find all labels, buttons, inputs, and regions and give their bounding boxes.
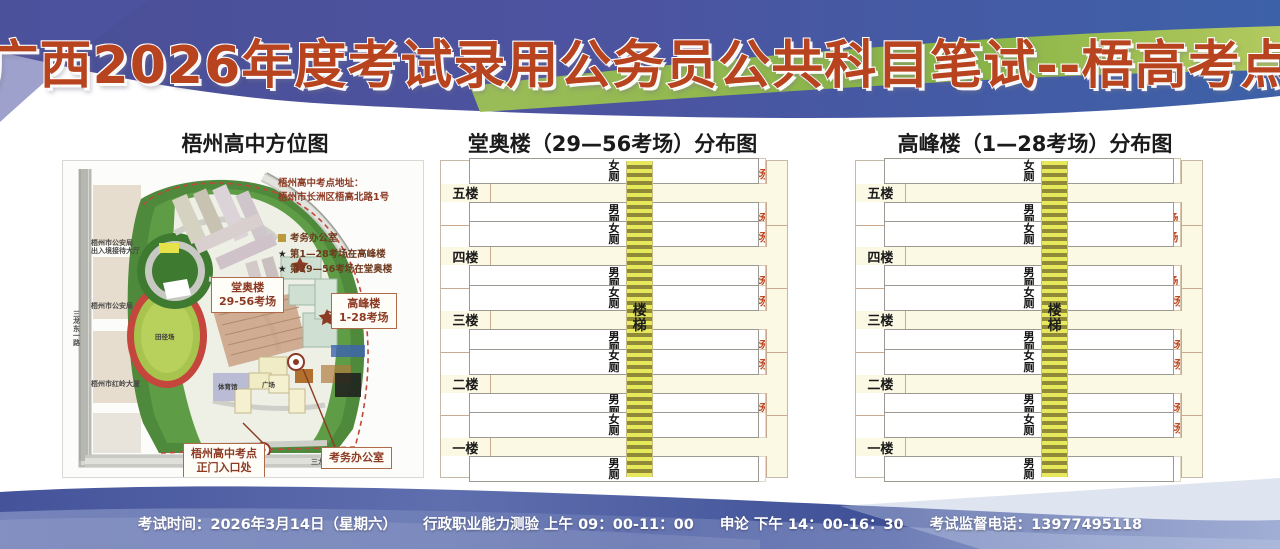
- female-restroom-cell: 女厕: [469, 158, 760, 184]
- square-marker-icon: [278, 234, 286, 242]
- callout-main-gate-line2: 正门入口处: [191, 461, 257, 475]
- place-label-hongling: 梧州市红岭大厦: [91, 379, 145, 389]
- stair-label-char: 楼: [1048, 304, 1062, 319]
- floor-band: [441, 375, 787, 393]
- female-restroom-cell: 女厕: [884, 221, 1175, 247]
- stair-label-char: 梯: [1048, 319, 1062, 334]
- floor-band: [441, 311, 787, 329]
- callout-main-gate-line1: 梧州高中考点: [191, 447, 257, 461]
- stairwell-column: 楼梯: [626, 161, 652, 477]
- female-restroom-cell: 女厕: [469, 285, 760, 311]
- map-address-line2: 梧州市长洲区梧高北路1号: [278, 191, 389, 205]
- stair-label-char: 楼: [633, 304, 647, 319]
- callout-office[interactable]: 考务办公室: [321, 447, 392, 469]
- stair-label-char: 梯: [633, 319, 647, 334]
- footer-subject-1: 行政职业能力测验 上午 09：00-11：00: [423, 513, 694, 534]
- legend-label-2: 第29—56考场在堂奥楼: [290, 264, 392, 275]
- wc-char: 男: [608, 394, 619, 405]
- floor-band: [441, 247, 787, 265]
- tangao-floor-table[interactable]: 五楼501室第29考场502室第30考场504室第32考场503室第31考场女厕…: [440, 160, 788, 478]
- road-label-sanlong-east: 三龙东一路: [73, 311, 83, 348]
- callout-tangao-line2: 29-56考场: [219, 295, 276, 309]
- wc-char: 厕: [608, 234, 619, 245]
- callout-tangao-line1: 堂奥楼: [219, 281, 276, 295]
- female-restroom-cell: 女厕: [884, 349, 1175, 375]
- footer-exam-time: 考试时间：2026年3月14日（星期六）: [138, 513, 397, 534]
- floor-band: [856, 375, 1202, 393]
- floor-band: [856, 184, 1202, 202]
- wc-char: 厕: [608, 362, 619, 373]
- wc-char: 厕: [1023, 298, 1034, 309]
- callout-tangao[interactable]: 堂奥楼 29-56考场: [211, 277, 284, 313]
- floor-band: [441, 438, 787, 456]
- wc-char: 厕: [608, 171, 619, 182]
- stairwell-column: 楼梯: [1041, 161, 1067, 477]
- legend-item-tangao: ★ 第29—56考场在堂奥楼: [278, 262, 392, 278]
- male-restroom-cell: 男厕: [884, 456, 1175, 482]
- female-restroom-cell: 女厕: [469, 349, 760, 375]
- banner-header: 广西2026年度考试录用公务员公共科目笔试--梧高考点: [0, 0, 1280, 120]
- female-restroom-cell: 女厕: [884, 158, 1175, 184]
- callout-office-line1: 考务办公室: [329, 451, 384, 465]
- female-restroom-cell: 女厕: [469, 412, 760, 438]
- tangao-grid: 五楼501室第29考场502室第30考场504室第32考场503室第31考场女厕…: [441, 161, 787, 477]
- campus-label-plaza: 广场: [262, 379, 275, 389]
- female-restroom-cell: 女厕: [469, 221, 760, 247]
- male-restroom-cell: 男厕: [469, 456, 760, 482]
- wc-char: 厕: [1023, 425, 1034, 436]
- wc-char: 厕: [1023, 171, 1034, 182]
- legend-label-1: 第1—28考场在高峰楼: [290, 249, 386, 260]
- wc-char: 女: [1023, 350, 1034, 361]
- gaofeng-floor-table[interactable]: 五楼501室502室504室第2考场503室第1考场女厕男厕四楼401室第3考场…: [855, 160, 1203, 478]
- campus-map-panel[interactable]: 梧州高中考点地址： 梧州市长洲区梧高北路1号 考务办公室 ★ 第1—28考场在高…: [62, 160, 424, 478]
- floor-band: [856, 247, 1202, 265]
- legend-item-office: 考务办公室: [278, 231, 392, 247]
- map-address-line1: 梧州高中考点地址：: [278, 177, 364, 191]
- place-label-police: 梧州市公安局: [91, 301, 143, 311]
- wc-char: 厕: [608, 425, 619, 436]
- gaofeng-grid: 五楼501室502室504室第2考场503室第1考场女厕男厕四楼401室第3考场…: [856, 161, 1202, 477]
- legend-item-gaofeng: ★ 第1—28考场在高峰楼: [278, 247, 392, 263]
- footer-hotline: 考试监督电话：13977495118: [930, 513, 1142, 534]
- star-marker-icon: ★: [278, 249, 287, 260]
- wc-char: 厕: [608, 298, 619, 309]
- page-title: 广西2026年度考试录用公务员公共科目笔试--梧高考点: [0, 23, 1280, 98]
- star-marker-icon: ★: [278, 264, 287, 275]
- campus-label-gym: 体育馆: [218, 381, 238, 391]
- wc-char: 男: [1023, 394, 1034, 405]
- female-restroom-cell: 女厕: [884, 285, 1175, 311]
- callout-gaofeng[interactable]: 高峰楼 1-28考场: [331, 293, 397, 329]
- map-legend: 考务办公室 ★ 第1—28考场在高峰楼 ★ 第29—56考场在堂奥楼: [278, 231, 392, 278]
- gaofeng-section-title: 高峰楼（1—28考场）分布图: [855, 128, 1215, 158]
- floor-band: [441, 184, 787, 202]
- tangao-section-title: 堂奥楼（29—56考场）分布图: [440, 128, 785, 158]
- floor-band: [856, 438, 1202, 456]
- legend-label-0: 考务办公室: [290, 233, 338, 244]
- callout-main-gate[interactable]: 梧州高中考点 正门入口处: [183, 443, 265, 478]
- wc-char: 厕: [608, 469, 619, 480]
- campus-label-track: 田径场: [155, 331, 175, 341]
- footer-subject-2: 申论 下午 14：00-16：30: [720, 513, 904, 534]
- female-restroom-cell: 女厕: [884, 412, 1175, 438]
- callout-gaofeng-line2: 1-28考场: [339, 311, 389, 325]
- footer-bar: 考试时间：2026年3月14日（星期六） 行政职业能力测验 上午 09：00-1…: [0, 489, 1280, 549]
- floor-band: [856, 311, 1202, 329]
- wc-char: 厕: [1023, 234, 1034, 245]
- callout-gaofeng-line1: 高峰楼: [339, 297, 389, 311]
- wc-char: 厕: [1023, 469, 1034, 480]
- wc-char: 女: [608, 350, 619, 361]
- map-section-title: 梧州高中方位图: [95, 128, 415, 158]
- place-label-entry-exit: 梧州市公安局出入境接待大厅: [91, 239, 143, 256]
- wc-char: 厕: [1023, 362, 1034, 373]
